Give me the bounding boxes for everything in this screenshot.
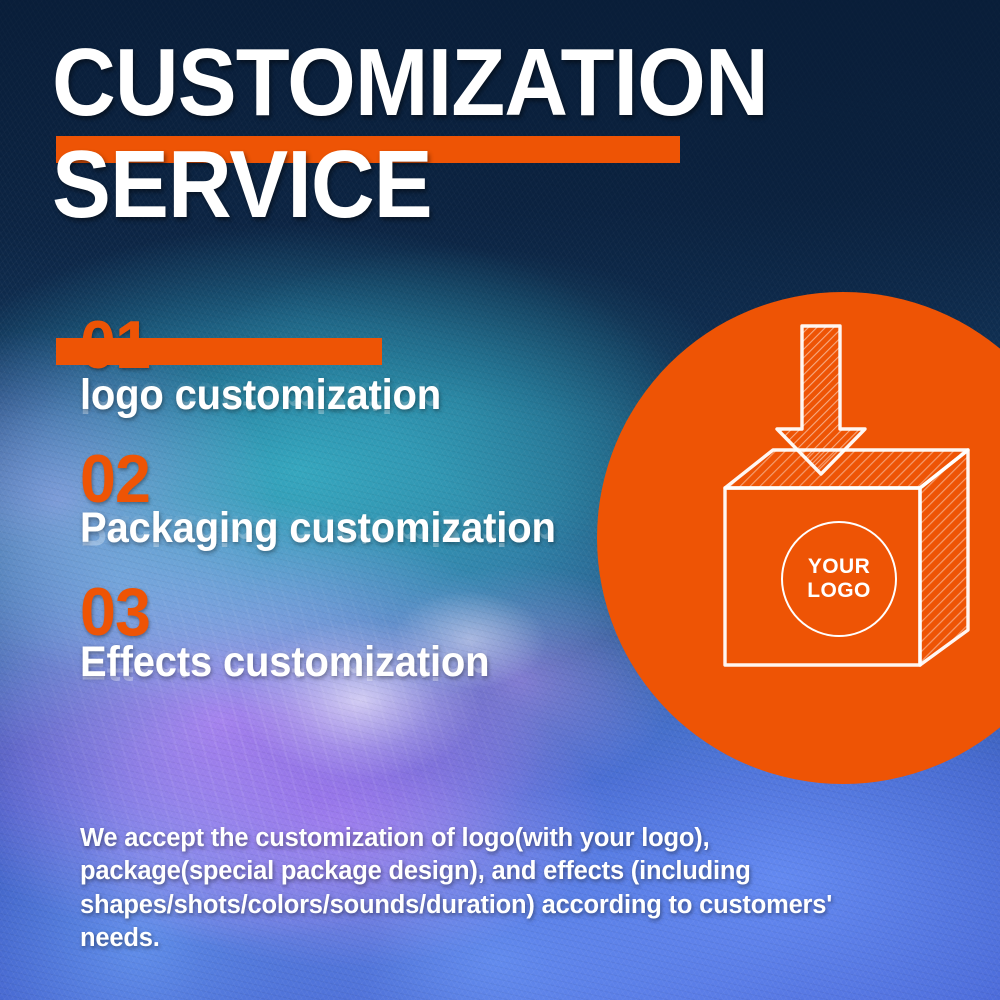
feature-label-02: Packaging customization <box>80 507 657 551</box>
page-title: CUSTOMIZATION SERVICE <box>52 38 752 230</box>
feature-number-03: 03 <box>80 585 669 641</box>
feature-number-02: 02 <box>80 452 669 508</box>
box-right-face <box>920 450 968 665</box>
headline-line-1: CUSTOMIZATION <box>52 38 752 128</box>
headline-word-customization: CUSTOMIZATION <box>52 38 696 128</box>
headline-word-service: SERVICE <box>52 140 696 230</box>
your-logo-line-1: YOUR <box>808 555 870 579</box>
feature-label-03: Effects customization <box>80 641 657 685</box>
headline-underline-bar-2 <box>56 338 382 365</box>
headline-line-2: SERVICE <box>52 140 752 230</box>
feature-label-01: logo customization <box>80 374 657 418</box>
your-logo-stamp: YOUR LOGO <box>781 521 897 637</box>
description-paragraph: We accept the customization of logo(with… <box>80 822 850 956</box>
your-logo-line-2: LOGO <box>807 579 870 603</box>
customization-service-poster: CUSTOMIZATION SERVICE 01 logo customizat… <box>0 0 1000 1000</box>
